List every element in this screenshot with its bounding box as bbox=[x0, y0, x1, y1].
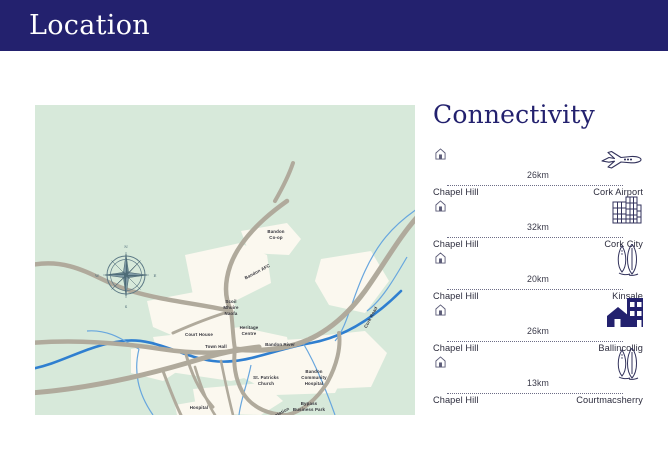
city-buildings-icon bbox=[597, 192, 643, 224]
compass-south-label: S bbox=[125, 304, 128, 309]
svg-text:Naofa: Naofa bbox=[225, 311, 238, 316]
home-icon bbox=[435, 148, 446, 160]
origin-label: Chapel Hill bbox=[433, 239, 479, 249]
svg-text:Heritage: Heritage bbox=[240, 325, 259, 330]
svg-text:St. Patricks: St. Patricks bbox=[253, 375, 279, 380]
connectivity-panel: Connectivity 26km Chapel Hill Cork Airpo… bbox=[433, 100, 643, 408]
origin-label: Chapel Hill bbox=[433, 395, 479, 405]
surfboards-icon bbox=[597, 348, 643, 380]
destination-label: Courtmacsherry bbox=[576, 395, 643, 405]
distance-dotted-line bbox=[447, 185, 623, 186]
surfboards-icon bbox=[597, 244, 643, 276]
svg-text:Town Hall: Town Hall bbox=[205, 344, 227, 349]
compass-east-label: E bbox=[154, 273, 157, 278]
home-icon bbox=[435, 200, 446, 212]
svg-text:Court House: Court House bbox=[185, 332, 213, 337]
svg-text:Co-op: Co-op bbox=[269, 235, 283, 240]
compass-north-label: N bbox=[124, 244, 128, 249]
svg-text:Hospital: Hospital bbox=[190, 405, 209, 410]
svg-text:Mhuire: Mhuire bbox=[223, 305, 239, 310]
origin-label: Chapel Hill bbox=[433, 187, 479, 197]
svg-text:Centre: Centre bbox=[242, 331, 257, 336]
svg-text:Church: Church bbox=[258, 381, 274, 386]
home-icon bbox=[435, 356, 446, 368]
svg-text:Bypass: Bypass bbox=[301, 401, 318, 406]
home-icon bbox=[435, 304, 446, 316]
distance-dotted-line bbox=[447, 237, 623, 238]
svg-text:Bandon: Bandon bbox=[305, 369, 322, 374]
map-panel[interactable]: Bandon Co-op Bandon AFC Scoil Mhuire Nao… bbox=[35, 105, 415, 415]
svg-text:Hospital: Hospital bbox=[305, 381, 324, 386]
distance-dotted-line bbox=[447, 289, 623, 290]
connectivity-title: Connectivity bbox=[433, 100, 643, 130]
compass-rose-icon: N E S W bbox=[90, 238, 162, 312]
svg-text:Scoil: Scoil bbox=[225, 299, 236, 304]
compass-west-label: W bbox=[95, 273, 100, 278]
home-icon bbox=[435, 252, 446, 264]
distance-dotted-line bbox=[447, 341, 623, 342]
svg-text:Bandon River: Bandon River bbox=[265, 342, 295, 347]
distance-dotted-line bbox=[447, 393, 623, 394]
origin-label: Chapel Hill bbox=[433, 343, 479, 353]
svg-text:Bandon: Bandon bbox=[267, 229, 284, 234]
airplane-icon bbox=[597, 140, 643, 172]
connectivity-endpoints: Chapel Hill Courtmacsherry bbox=[433, 395, 643, 405]
houses-filled-icon bbox=[597, 296, 643, 328]
svg-text:Community: Community bbox=[301, 375, 327, 380]
svg-text:Business Park: Business Park bbox=[293, 407, 326, 412]
connectivity-row: 13km Chapel Hill Courtmacsherry bbox=[433, 356, 643, 408]
page-title: Location bbox=[29, 9, 150, 43]
origin-label: Chapel Hill bbox=[433, 291, 479, 301]
page-header: Location bbox=[0, 0, 668, 51]
